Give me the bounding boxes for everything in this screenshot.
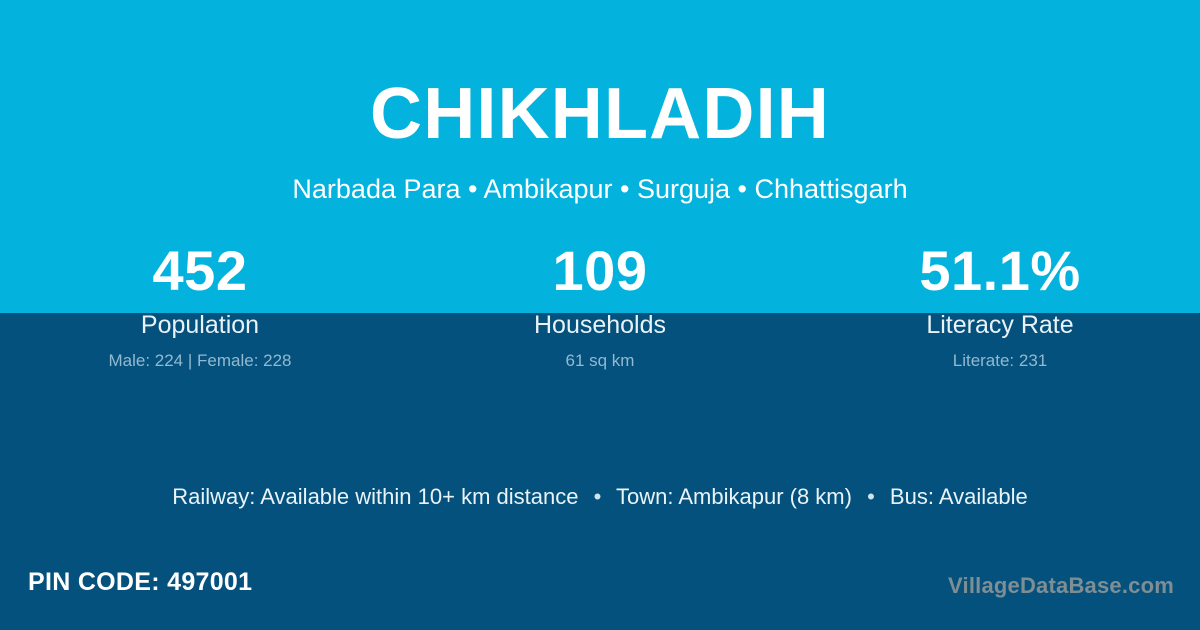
stat-households: 109 Households 61 sq km bbox=[400, 243, 800, 369]
infrastructure-line: Railway: Available within 10+ km distanc… bbox=[0, 486, 1200, 508]
stat-label: Literacy Rate bbox=[800, 313, 1200, 338]
town-info: Town: Ambikapur (8 km) bbox=[616, 484, 852, 509]
stat-label: Households bbox=[400, 313, 800, 338]
stat-sublabel: 61 sq km bbox=[400, 352, 800, 369]
stats-row: 452 Population Male: 224 | Female: 228 1… bbox=[0, 243, 1200, 369]
stat-value: 452 bbox=[0, 243, 400, 307]
pin-code: PIN CODE: 497001 bbox=[28, 570, 252, 595]
bullet-separator-icon: • bbox=[585, 486, 611, 508]
village-info-card: CHIKHLADIH Narbada Para • Ambikapur • Su… bbox=[0, 0, 1200, 630]
stat-literacy-rate: 51.1% Literacy Rate Literate: 231 bbox=[800, 243, 1200, 369]
breadcrumb: Narbada Para • Ambikapur • Surguja • Chh… bbox=[0, 150, 1200, 203]
railway-info: Railway: Available within 10+ km distanc… bbox=[172, 484, 578, 509]
stat-sublabel: Literate: 231 bbox=[800, 352, 1200, 369]
card-header: CHIKHLADIH Narbada Para • Ambikapur • Su… bbox=[0, 0, 1200, 203]
stat-value: 51.1% bbox=[800, 243, 1200, 307]
stat-label: Population bbox=[0, 313, 400, 338]
bus-info: Bus: Available bbox=[890, 484, 1028, 509]
stat-value: 109 bbox=[400, 243, 800, 307]
page-title: CHIKHLADIH bbox=[0, 0, 1200, 150]
bullet-separator-icon: • bbox=[858, 486, 884, 508]
site-watermark: VillageDataBase.com bbox=[948, 575, 1174, 597]
stat-population: 452 Population Male: 224 | Female: 228 bbox=[0, 243, 400, 369]
card-footer: PIN CODE: 497001 VillageDataBase.com bbox=[0, 558, 1200, 630]
stat-sublabel: Male: 224 | Female: 228 bbox=[0, 352, 400, 369]
